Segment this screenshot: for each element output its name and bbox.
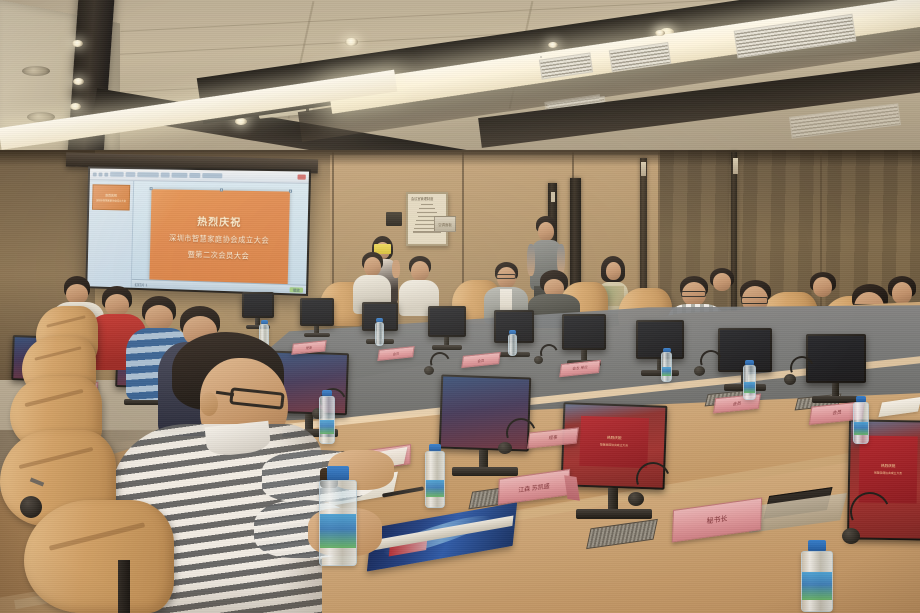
monitor-far-2[interactable]: [300, 298, 334, 326]
slideshow-button[interactable]: 播放: [290, 287, 303, 293]
water-bottle[interactable]: [374, 318, 385, 346]
water-bottle[interactable]: [507, 330, 518, 356]
placard-text: 秘书长: [706, 513, 727, 526]
downlight-icon: [235, 118, 247, 125]
water-bottle[interactable]: [742, 360, 757, 400]
microphone-head[interactable]: [784, 374, 796, 385]
chair-near-foreground[interactable]: [24, 500, 174, 613]
powerpoint-slide-stage: 热烈庆祝 深圳市智慧家庭协会成立大会 暨第二次会员大会 幻灯片 1 播放: [132, 181, 309, 294]
projection-screen: 热烈庆祝 深圳市智慧家庭协会成立大会 热烈庆祝 深圳市智慧家庭协会成立大会 暨第…: [85, 167, 311, 296]
wall-mounted-device[interactable]: [386, 212, 402, 226]
placard-text: 会员: [392, 351, 399, 357]
glasses-icon: [681, 291, 706, 297]
microphone-head[interactable]: [498, 442, 512, 454]
water-bottle-held[interactable]: [318, 466, 358, 566]
water-bottle[interactable]: [660, 348, 673, 382]
door-handle[interactable]: [551, 192, 555, 202]
presentation-slide: 热烈庆祝 深圳市智慧家庭协会成立大会 暨第二次会员大会: [149, 189, 290, 285]
placard-text: 会员: [477, 357, 484, 363]
monitor-far-9[interactable]: [806, 334, 866, 383]
wall-reveal-slot: [640, 158, 647, 308]
placard-text: 会员: [832, 409, 842, 416]
wall-notice-title: 会议室管理制度: [411, 198, 443, 201]
monitor-far-4[interactable]: [428, 306, 466, 337]
placard-text: 理事: [548, 434, 558, 441]
thumbnail-subtitle: 深圳市智慧家庭协会成立大会: [96, 198, 126, 203]
water-bottle[interactable]: [424, 444, 446, 508]
slide-title: 热烈庆祝: [197, 213, 241, 229]
monitor-slide-line-2: 智慧家庭协会成立大会: [600, 443, 628, 448]
person-back-head: [808, 272, 840, 306]
downlight-icon: [70, 103, 81, 110]
placard-text: 江森 苏凯盛: [518, 480, 550, 494]
placard-text: 会长 单位: [572, 365, 588, 372]
monitor-far-6[interactable]: [562, 314, 606, 350]
downlight-icon: [655, 30, 665, 36]
wall-control-panel[interactable]: 空调面板: [434, 216, 456, 232]
water-bottle[interactable]: [800, 540, 834, 612]
door-handle[interactable]: [641, 162, 646, 176]
slide-line-2: 暨第二次会员大会: [188, 249, 250, 261]
chair-post: [118, 560, 130, 613]
door-handle[interactable]: [733, 158, 738, 174]
monitor-slide-line-1: 热烈庆祝: [607, 436, 622, 441]
placard-text: 会员: [732, 400, 741, 407]
microphone-head[interactable]: [628, 492, 644, 506]
microphone-head[interactable]: [694, 366, 705, 376]
slide-thumbnail-1[interactable]: 热烈庆祝 深圳市智慧家庭协会成立大会: [92, 184, 130, 210]
monitor-slide-line-1: 热烈庆祝: [881, 464, 895, 469]
downlight-icon: [72, 40, 83, 47]
ceiling-speaker-icon: [22, 66, 50, 76]
downlight-icon: [548, 42, 558, 48]
chair-caster: [20, 496, 42, 518]
ear: [200, 392, 218, 416]
downlight-icon: [345, 38, 358, 46]
microphone-head[interactable]: [534, 356, 543, 364]
wall-seam: [332, 152, 334, 302]
powerpoint-thumbnail-panel[interactable]: 热烈庆祝 深圳市智慧家庭协会成立大会: [87, 180, 134, 287]
microphone-head[interactable]: [424, 366, 434, 375]
slide-line-1: 深圳市智慧家庭协会成立大会: [169, 233, 269, 246]
downlight-icon: [73, 78, 84, 85]
monitor-slide-content: 热烈庆祝 智慧家庭协会成立大会: [579, 416, 649, 468]
thumbnail-title: 热烈庆祝: [105, 193, 117, 197]
wall-control-label: 空调面板: [435, 217, 455, 233]
conference-room-photo: 会议室管理制度 空调面板 热烈庆祝: [0, 0, 920, 613]
microphone-head[interactable]: [842, 528, 860, 544]
wall-seam: [462, 152, 464, 302]
glasses-icon: [496, 274, 516, 279]
monitor-far-1[interactable]: [242, 292, 274, 318]
glasses-icon: [741, 297, 768, 304]
person-back-head: [708, 268, 738, 298]
water-bottle[interactable]: [852, 396, 870, 444]
monitor-slide-line-2: 智慧家庭协会成立大会: [874, 471, 902, 475]
